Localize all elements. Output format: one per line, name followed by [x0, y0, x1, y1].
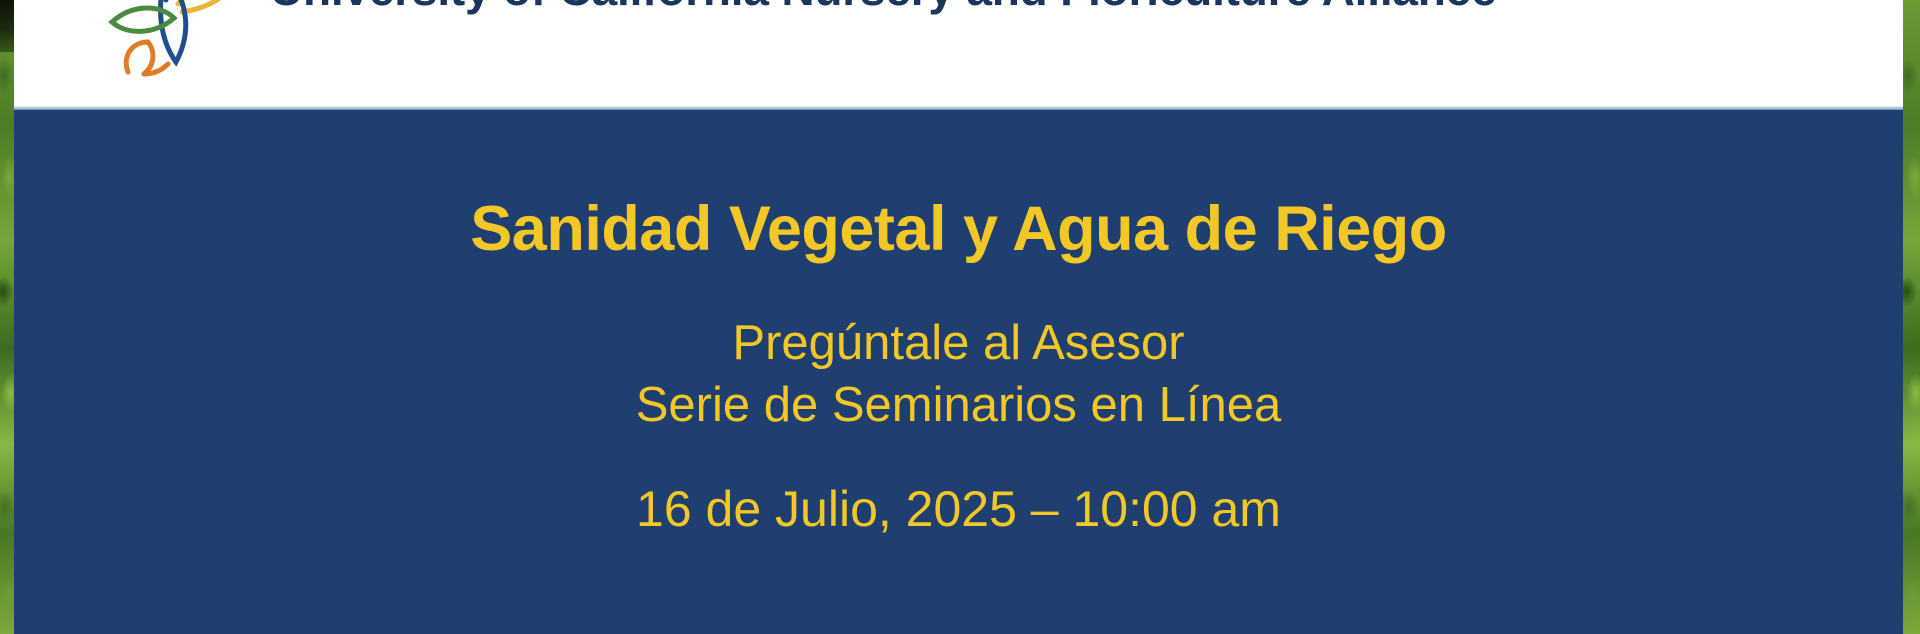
slide-copy-block: Sanidad Vegetal y Agua de Riego Pregúnta… [14, 110, 1903, 534]
series-subtitle-line-1: Pregúntale al Asesor [14, 313, 1903, 375]
webinar-title-slide: University of California Nursery and Flo… [0, 0, 1920, 634]
series-subtitle-line-2: Serie de Seminarios en Línea [14, 375, 1903, 437]
organization-wordmark: University of California Nursery and Flo… [270, 0, 1500, 12]
page-title: Sanidad Vegetal y Agua de Riego [14, 198, 1903, 261]
foliage-strip-left [0, 0, 14, 634]
slide-body-panel: Sanidad Vegetal y Agua de Riego Pregúnta… [14, 110, 1903, 634]
ucnfa-leaf-logo-icon [104, 0, 236, 90]
event-datetime: 16 de Julio, 2025 – 10:00 am [14, 484, 1903, 534]
foliage-strip-right [1903, 0, 1920, 634]
header-band [14, 0, 1903, 108]
foliage-dark-patch [0, 0, 14, 52]
series-subtitle: Pregúntale al Asesor Serie de Seminarios… [14, 313, 1903, 436]
